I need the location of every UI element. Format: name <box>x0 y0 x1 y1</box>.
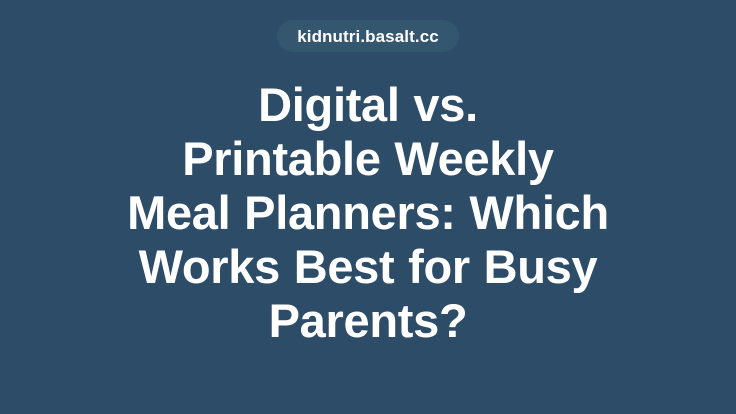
page-title: Digital vs. Printable Weekly Meal Planne… <box>118 78 618 348</box>
headline-line-2: Printable Weekly <box>118 132 618 186</box>
site-domain-badge: kidnutri.basalt.cc <box>277 20 459 52</box>
headline-line-5: Parents? <box>118 294 618 348</box>
headline-line-1: Digital vs. <box>118 78 618 132</box>
cover-card: kidnutri.basalt.cc Digital vs. Printable… <box>0 0 736 414</box>
site-domain-label: kidnutri.basalt.cc <box>297 28 439 45</box>
headline-line-4: Works Best for Busy <box>118 240 618 294</box>
headline-line-3: Meal Planners: Which <box>118 186 618 240</box>
